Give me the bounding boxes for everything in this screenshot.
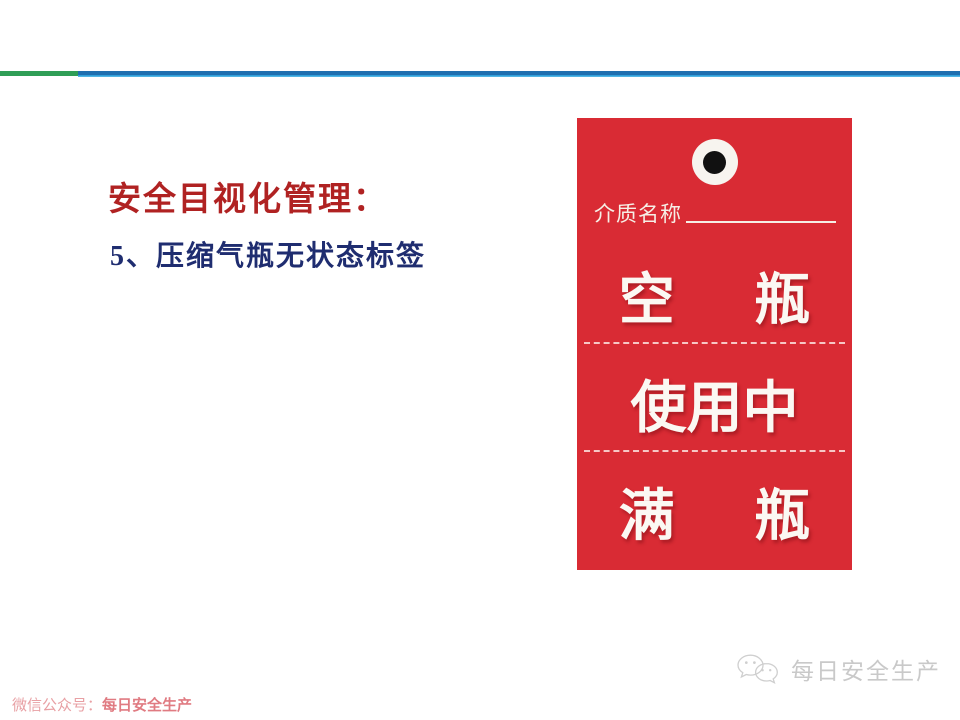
status-panel-empty: 空 瓶 <box>577 258 852 344</box>
status-panel-empty-label: 空 瓶 <box>589 273 841 329</box>
tag-divider-bottom <box>584 450 845 452</box>
status-panel-full-label: 满 瓶 <box>589 489 841 545</box>
page-title: 安全目视化管理： <box>108 172 388 220</box>
slide-canvas: 安全目视化管理： 5、压缩气瓶无状态标签 介质名称 空 瓶 使用中 满 瓶 微信… <box>0 0 960 720</box>
tag-divider-top <box>584 342 845 344</box>
wechat-handle-watermark: 微信公众号：每日安全生产 <box>12 694 192 715</box>
status-panel-in-use: 使用中 <box>577 366 852 452</box>
wechat-handle-name: 每日安全生产 <box>102 696 192 714</box>
status-panel-full: 满 瓶 <box>577 474 852 560</box>
medium-name-field: 介质名称 <box>594 204 836 225</box>
brand-name-label: 每日安全生产 <box>791 652 941 686</box>
rule-segment-green <box>0 71 78 76</box>
brand-lockup: 每日安全生产 <box>735 652 941 686</box>
wechat-handle-prefix: 微信公众号： <box>12 696 102 714</box>
medium-name-blank-line <box>686 220 836 223</box>
medium-name-label: 介质名称 <box>594 204 682 225</box>
status-panel-in-use-label: 使用中 <box>631 381 799 437</box>
cylinder-status-tag: 介质名称 空 瓶 使用中 满 瓶 <box>577 118 852 570</box>
wechat-icon <box>735 652 781 686</box>
grommet-hole-icon <box>692 139 738 185</box>
grommet-hole-center <box>703 151 726 174</box>
rule-segment-glow <box>78 75 960 77</box>
header-divider-rule <box>0 71 960 76</box>
page-subtitle: 5、压缩气瓶无状态标签 <box>110 234 426 274</box>
